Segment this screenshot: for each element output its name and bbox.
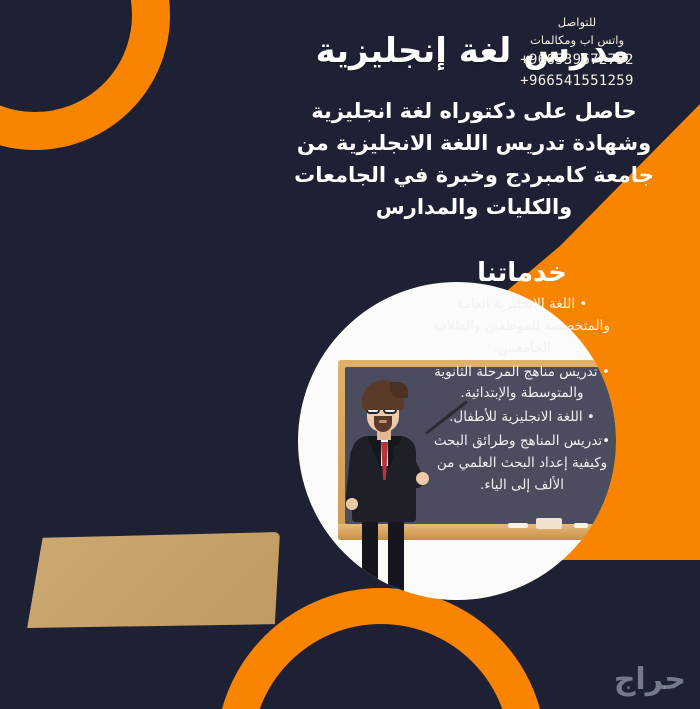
subtitle-block: حاصل على دكتوراه لغة انجليزية وشهادة تدر… [278,96,670,224]
teacher-hand [416,472,429,485]
contact-card [22,532,280,628]
contact-label: للتواصل [472,14,682,32]
subtitle-line: جامعة كامبردج وخبرة في الجامعات [278,160,670,192]
chalk-icon [574,523,588,528]
list-item: • تدريس مناهج المرحلة الثانوية والمتوسطة… [432,362,612,406]
subtitle-line: وشهادة تدريس اللغة الانجليزية من [278,128,670,160]
subtitle-line: حاصل على دكتوراه لغة انجليزية [278,96,670,128]
teacher-leg [362,518,378,598]
contact-details: للتواصل واتس اب ومكالمات +966539672752 +… [472,14,682,93]
watermark: حراج [614,662,686,697]
phone-number-primary[interactable]: +966539672752 [472,50,682,72]
services-section: خدماتنا • اللغة الانجليزية العامة والمتخ… [432,258,612,499]
teacher-leg [388,518,404,598]
list-item: •تدريس المناهج وطرائق البحث وكيفية إعداد… [432,431,612,497]
orange-ring-top-left-icon [0,0,170,150]
chalk-icon [508,523,528,528]
eraser-icon [536,518,562,529]
services-heading: خدماتنا [432,258,612,288]
teacher-hand [346,498,358,510]
list-item: • اللغة الانجليزية للأطفال. [432,407,612,429]
services-list: • اللغة الانجليزية العامة والمتخصصة للمو… [432,294,612,497]
teacher-mouth [379,420,387,423]
list-item: • اللغة الانجليزية العامة والمتخصصة للمو… [432,294,612,360]
advertisement-poster: مدرس لغة إنجليزية حاصل على دكتوراه لغة ا… [0,0,700,709]
teacher-hair-fringe [390,382,408,398]
phone-number-secondary[interactable]: +966541551259 [472,71,682,93]
subtitle-line: والكليات والمدارس [278,192,670,224]
contact-channels: واتس اب ومكالمات [472,32,682,50]
